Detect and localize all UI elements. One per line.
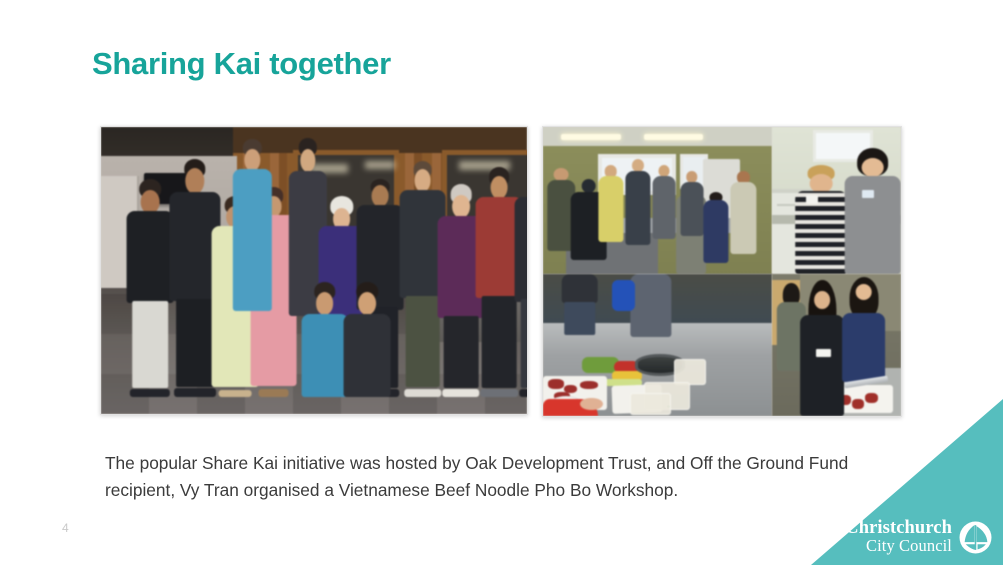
person	[703, 192, 728, 263]
person	[344, 282, 391, 397]
collage-cell-slicing-beef	[772, 274, 901, 416]
person	[598, 165, 623, 242]
sliced-beef	[580, 381, 598, 389]
hand	[580, 398, 603, 411]
person	[233, 139, 271, 311]
person	[800, 280, 844, 416]
wood-trim	[233, 127, 527, 153]
person	[630, 274, 671, 336]
person	[625, 159, 650, 244]
name-badge	[816, 349, 831, 356]
group-photo-content	[101, 127, 527, 414]
person	[731, 171, 756, 254]
noodle-packet	[630, 393, 671, 414]
ceiling-light-2	[365, 161, 395, 168]
collage-cell-kitchen-group	[543, 127, 772, 274]
person	[680, 171, 703, 236]
christchurch-city-council-logo: Christchurch City Council	[845, 519, 992, 555]
person	[612, 280, 635, 311]
person	[844, 148, 901, 275]
person	[653, 165, 676, 239]
group-photo	[100, 126, 528, 415]
page-title: Sharing Kai together	[92, 46, 391, 82]
fluorescent-light-2	[644, 134, 704, 140]
collage-cell-prepping-greens	[772, 127, 901, 274]
cooking-collage	[542, 126, 902, 417]
christchurch-city-council-emblem	[959, 521, 992, 554]
sliced-beef	[548, 379, 564, 389]
logo-wordmark: Christchurch City Council	[845, 519, 952, 555]
person	[842, 277, 886, 382]
noodle-packet	[674, 359, 706, 384]
logo-line-city-council: City Council	[845, 538, 952, 555]
name-badge	[862, 190, 874, 197]
person	[127, 179, 174, 397]
fluorescent-light-1	[561, 134, 621, 140]
person	[561, 274, 598, 333]
person	[301, 282, 348, 397]
sliced-beef	[865, 393, 878, 403]
sliced-beef	[852, 399, 864, 409]
collage-cell-ingredients	[543, 274, 772, 416]
slide-caption: The popular Share Kai initiative was hos…	[105, 450, 895, 504]
name-badge	[806, 195, 819, 204]
person	[795, 165, 847, 274]
person	[514, 170, 528, 397]
page-number: 4	[62, 521, 69, 535]
slide: Sharing Kai together	[0, 0, 1003, 565]
